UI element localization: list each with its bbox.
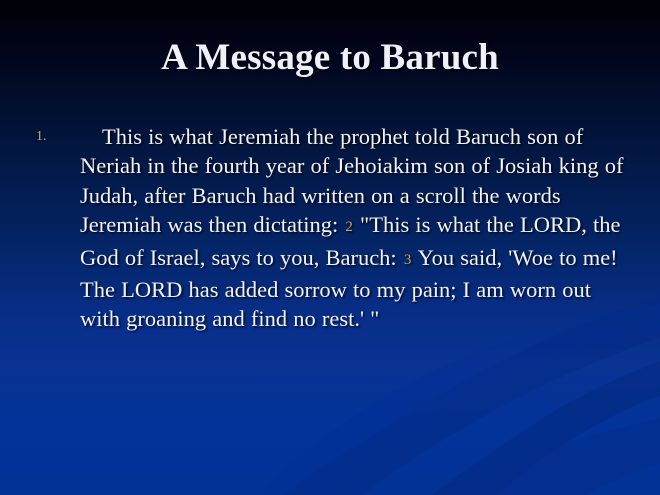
list-item-number: 1.	[36, 122, 80, 151]
presentation-slide: A Message to Baruch 1. This is what Jere…	[0, 0, 660, 495]
verse-number-2: 2	[344, 219, 354, 235]
slide-body: 1. This is what Jeremiah the prophet tol…	[36, 122, 626, 334]
verse-number-3: 3	[403, 252, 413, 268]
scripture-paragraph: This is what Jeremiah the prophet told B…	[80, 122, 626, 334]
slide-title: A Message to Baruch	[0, 36, 660, 80]
